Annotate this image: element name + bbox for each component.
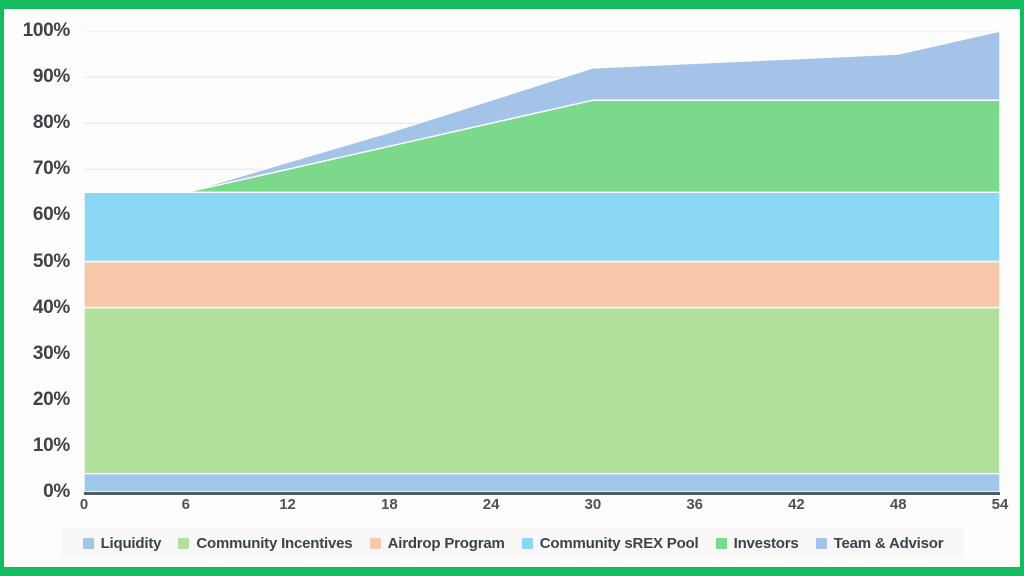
legend-item[interactable]: Investors xyxy=(716,535,799,552)
legend-item[interactable]: Community sREX Pool xyxy=(522,535,699,552)
plot-area xyxy=(84,31,1000,492)
legend-label: Investors xyxy=(734,535,799,552)
legend-label: Community sREX Pool xyxy=(540,535,699,552)
y-axis-tick-label: 70% xyxy=(33,158,70,180)
x-axis-line xyxy=(84,492,1000,495)
x-axis-tick-label: 0 xyxy=(80,496,88,513)
legend-label: Liquidity xyxy=(101,535,162,552)
y-axis-tick-label: 20% xyxy=(33,389,70,411)
area-series xyxy=(84,192,1000,261)
x-axis-tick-label: 48 xyxy=(890,496,907,513)
stacked-area-svg xyxy=(84,31,1000,492)
plot-wrapper: 0%10%20%30%40%50%60%70%80%90%100% 061218… xyxy=(4,9,1020,524)
chart-screenshot: 0%10%20%30%40%50%60%70%80%90%100% 061218… xyxy=(0,0,1024,576)
legend-item[interactable]: Team & Advisor xyxy=(816,535,944,552)
area-series xyxy=(84,474,1000,492)
x-axis-tick-labels: 061218243036424854 xyxy=(84,496,1000,522)
legend-swatch-icon xyxy=(178,538,189,549)
x-axis-tick-label: 18 xyxy=(381,496,398,513)
x-axis-tick-label: 54 xyxy=(992,496,1009,513)
y-axis-tick-label: 0% xyxy=(43,481,70,503)
y-axis-tick-label: 100% xyxy=(23,20,70,42)
legend-swatch-icon xyxy=(716,538,727,549)
x-axis-tick-label: 30 xyxy=(585,496,602,513)
x-axis-tick-label: 6 xyxy=(182,496,190,513)
area-series xyxy=(84,262,1000,308)
chart-canvas: 0%10%20%30%40%50%60%70%80%90%100% 061218… xyxy=(4,9,1020,567)
area-series xyxy=(84,100,1000,192)
area-series xyxy=(84,308,1000,474)
legend-item[interactable]: Liquidity xyxy=(83,535,162,552)
y-axis-tick-label: 10% xyxy=(33,435,70,457)
legend-item[interactable]: Community Incentives xyxy=(178,535,352,552)
x-axis-tick-label: 36 xyxy=(686,496,703,513)
y-axis-tick-label: 50% xyxy=(33,251,70,273)
y-axis-tick-label: 60% xyxy=(33,204,70,226)
legend-swatch-icon xyxy=(816,538,827,549)
y-axis-tick-label: 90% xyxy=(33,66,70,88)
x-axis-tick-label: 12 xyxy=(279,496,296,513)
y-axis-tick-label: 40% xyxy=(33,297,70,319)
frame-border-bottom xyxy=(0,567,1024,576)
legend-swatch-icon xyxy=(370,538,381,549)
legend-label: Team & Advisor xyxy=(834,535,944,552)
legend-swatch-icon xyxy=(83,538,94,549)
frame-border-top xyxy=(0,0,1024,9)
x-axis-tick-label: 24 xyxy=(483,496,500,513)
frame-border-right xyxy=(1020,0,1024,576)
y-axis-tick-label: 30% xyxy=(33,343,70,365)
chart-legend: LiquidityCommunity IncentivesAirdrop Pro… xyxy=(62,528,964,558)
legend-label: Community Incentives xyxy=(196,535,352,552)
x-axis-tick-label: 42 xyxy=(788,496,805,513)
y-axis-tick-label: 80% xyxy=(33,112,70,134)
legend-label: Airdrop Program xyxy=(388,535,505,552)
y-axis-tick-labels: 0%10%20%30%40%50%60%70%80%90%100% xyxy=(4,9,78,524)
legend-item[interactable]: Airdrop Program xyxy=(370,535,505,552)
legend-swatch-icon xyxy=(522,538,533,549)
